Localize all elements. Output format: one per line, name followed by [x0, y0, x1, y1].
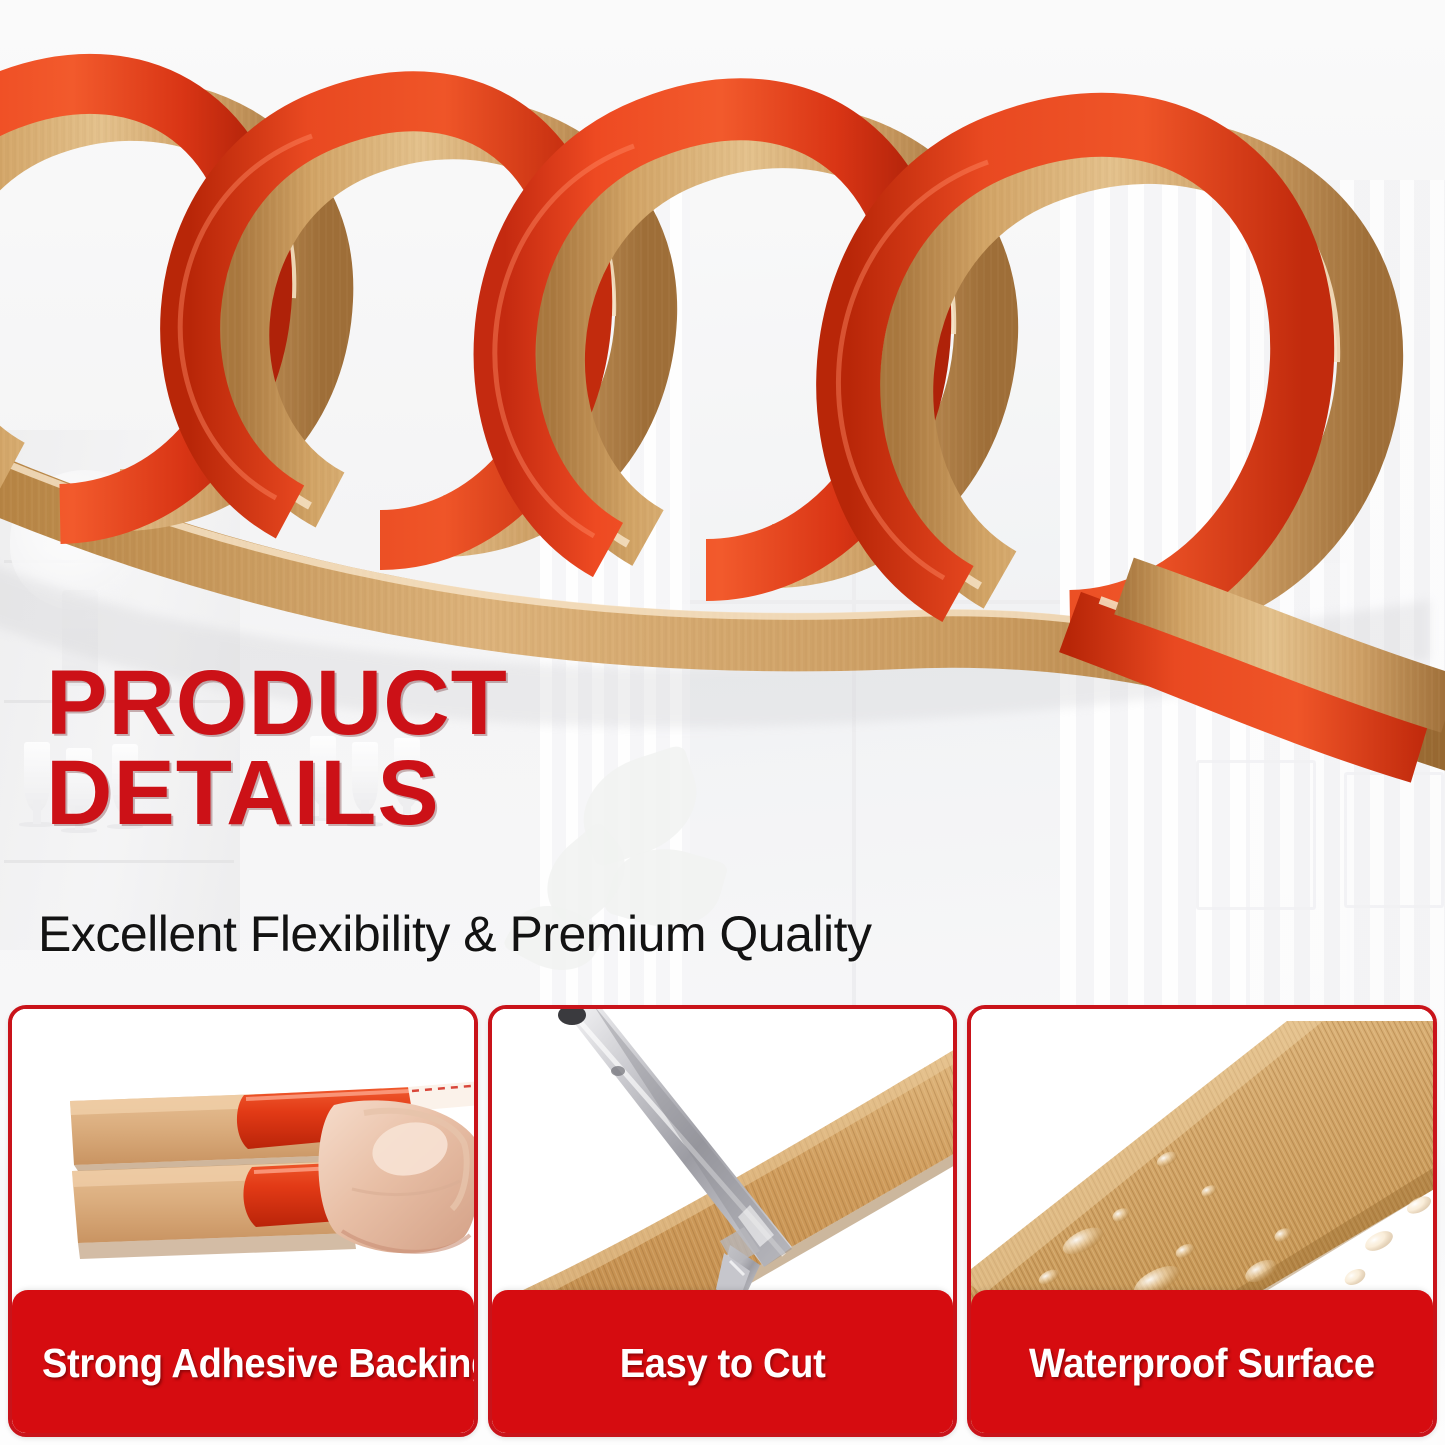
- background-chair-2: [1344, 772, 1444, 908]
- infographic-canvas: PRODUCT DETAILS Excellent Flexibility & …: [0, 0, 1445, 1445]
- cut-caption-label: Easy to Cut: [620, 1340, 826, 1387]
- page-subtitle: Excellent Flexibility & Premium Quality: [38, 905, 872, 963]
- waterproof-caption-bar: Waterproof Surface: [971, 1290, 1433, 1437]
- feature-card-waterproof[interactable]: Waterproof Surface: [967, 1005, 1437, 1437]
- cabinet-shelf-3: [4, 860, 234, 863]
- feature-card-adhesive[interactable]: Strong Adhesive Backing: [8, 1005, 478, 1437]
- cut-caption-bar: Easy to Cut: [492, 1290, 954, 1437]
- adhesive-caption-bar: Strong Adhesive Backing: [12, 1290, 474, 1437]
- page-title: PRODUCT DETAILS: [46, 658, 508, 838]
- feature-card-cut[interactable]: Easy to Cut: [488, 1005, 958, 1437]
- adhesive-caption-label: Strong Adhesive Backing: [42, 1340, 478, 1387]
- feature-card-list: Strong Adhesive Backing: [8, 1005, 1437, 1437]
- waterproof-caption-label: Waterproof Surface: [1029, 1340, 1375, 1387]
